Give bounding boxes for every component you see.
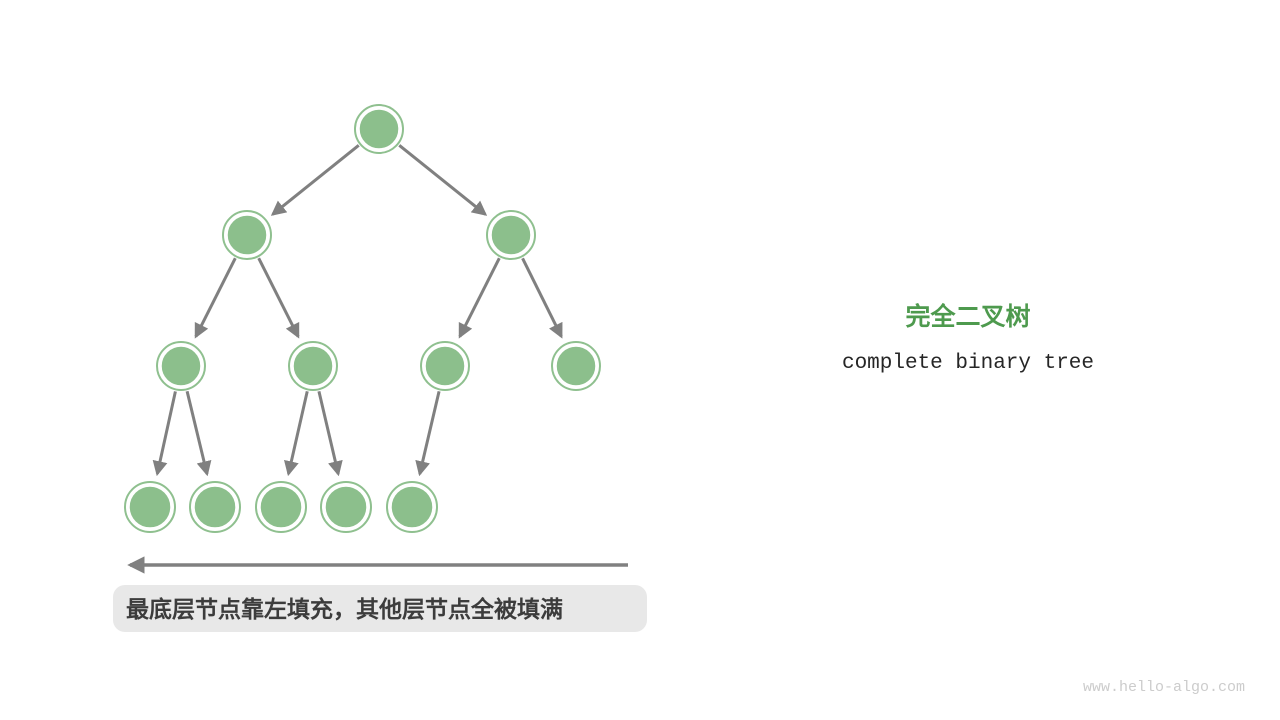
tree-node bbox=[289, 342, 337, 390]
complete-binary-tree-figure: 最底层节点靠左填充，其他层节点全被填满 完全二叉树 complete binar… bbox=[0, 0, 1280, 720]
watermark-text: www.hello-algo.com bbox=[1083, 679, 1245, 696]
node-body bbox=[194, 486, 237, 529]
node-body bbox=[425, 346, 466, 387]
title-english: complete binary tree bbox=[842, 352, 1094, 375]
node-body bbox=[260, 486, 303, 529]
tree-node bbox=[256, 482, 306, 532]
caption-banner: 最底层节点靠左填充，其他层节点全被填满 bbox=[113, 585, 647, 632]
tree-edge bbox=[420, 391, 439, 474]
tree-node bbox=[223, 211, 271, 259]
title-chinese: 完全二叉树 bbox=[905, 302, 1030, 331]
tree-edge bbox=[157, 391, 175, 473]
node-body bbox=[129, 486, 172, 529]
tree-node bbox=[355, 105, 403, 153]
tree-node bbox=[487, 211, 535, 259]
node-body bbox=[227, 215, 268, 256]
node-body bbox=[325, 486, 368, 529]
tree-edge bbox=[187, 391, 207, 474]
node-body bbox=[391, 486, 434, 529]
tree-edges bbox=[157, 145, 561, 474]
caption-text: 最底层节点靠左填充，其他层节点全被填满 bbox=[126, 596, 563, 622]
tree-edge bbox=[259, 258, 298, 336]
tree-edge bbox=[289, 391, 308, 473]
tree-node bbox=[125, 482, 175, 532]
tree-node bbox=[552, 342, 600, 390]
tree-node bbox=[157, 342, 205, 390]
tree-edge bbox=[399, 145, 485, 214]
node-body bbox=[359, 109, 400, 150]
tree-edge bbox=[196, 258, 235, 336]
tree-node bbox=[387, 482, 437, 532]
tree-nodes bbox=[125, 105, 600, 532]
tree-edge bbox=[319, 391, 338, 474]
tree-edge bbox=[460, 258, 499, 336]
node-body bbox=[556, 346, 597, 387]
legend-title-group: 完全二叉树 complete binary tree bbox=[842, 302, 1094, 375]
node-body bbox=[161, 346, 202, 387]
tree-edge bbox=[273, 145, 359, 214]
tree-edge bbox=[523, 258, 562, 336]
tree-node bbox=[190, 482, 240, 532]
node-body bbox=[293, 346, 334, 387]
tree-node bbox=[421, 342, 469, 390]
tree-node bbox=[321, 482, 371, 532]
node-body bbox=[491, 215, 532, 256]
